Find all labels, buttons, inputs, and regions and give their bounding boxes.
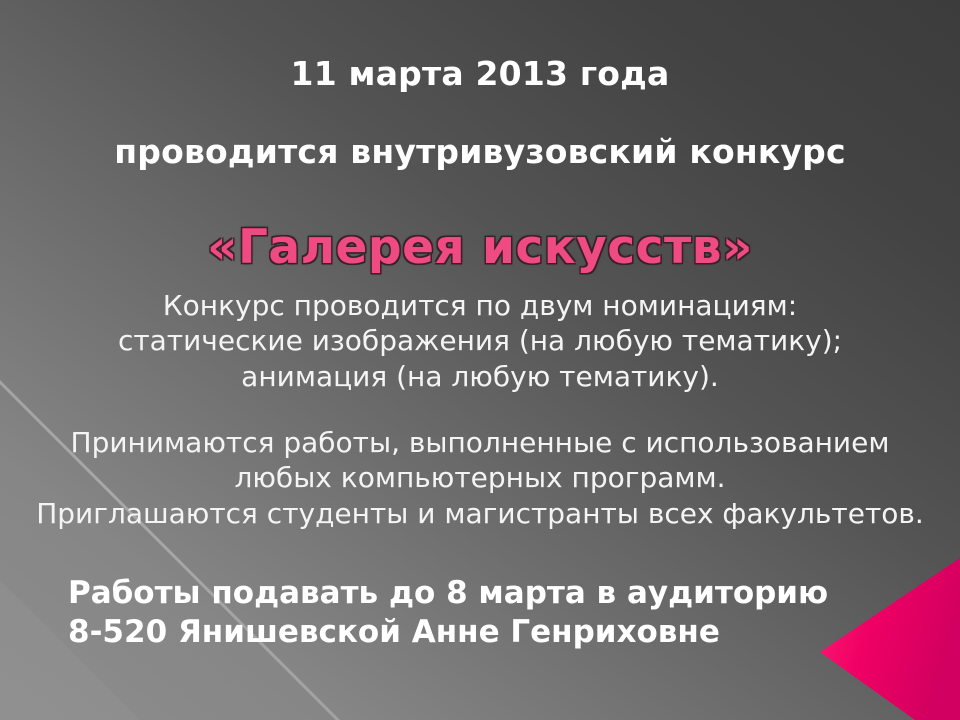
conditions-line-3: Приглашаются студенты и магистранты всех… (0, 496, 960, 531)
slide-event-heading: проводится внутривузовский конкурс (0, 134, 960, 171)
conditions-line-2: любых компьютерных программ. (0, 460, 960, 495)
nominations-paragraph: Конкурс проводится по двум номинациям: с… (0, 288, 960, 394)
nominations-line-3: анимация (на любую тематику). (0, 359, 960, 394)
slide-date-heading: 11 марта 2013 года (0, 56, 960, 93)
nominations-line-2: статические изображения (на любую темати… (0, 323, 960, 358)
submission-footer: Работы подавать до 8 марта в аудиторию 8… (0, 574, 960, 652)
conditions-line-1: Принимаются работы, выполненные с исполь… (0, 425, 960, 460)
conditions-paragraph: Принимаются работы, выполненные с исполь… (0, 425, 960, 531)
contest-title: «Галерея искусств» (0, 222, 960, 275)
slide-event-text: проводится внутривузовский конкурс (0, 134, 960, 171)
submission-contact-line: 8-520 Янишевской Анне Генриховне (68, 613, 960, 652)
submission-deadline-line: Работы подавать до 8 марта в аудиторию (68, 574, 960, 613)
presentation-slide: 11 марта 2013 года проводится внутривузо… (0, 0, 960, 720)
contest-title-text: «Галерея искусств» (0, 222, 960, 275)
slide-date-text: 11 марта 2013 года (0, 56, 960, 93)
nominations-line-1: Конкурс проводится по двум номинациям: (0, 288, 960, 323)
